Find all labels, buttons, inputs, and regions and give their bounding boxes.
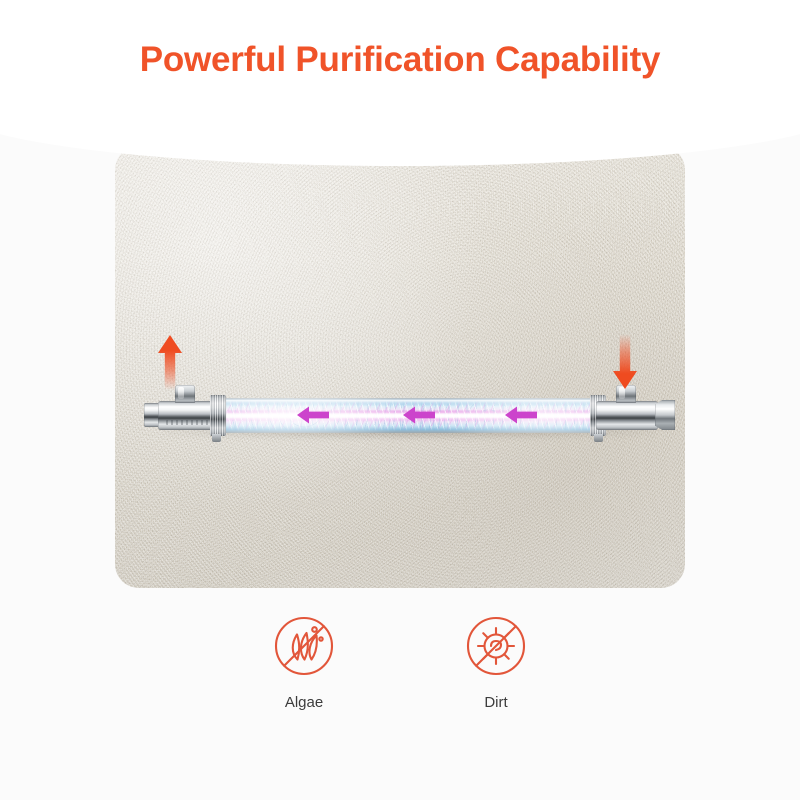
outlet-arrow-icon	[612, 334, 638, 390]
water-flow-arrow-3	[504, 404, 538, 426]
right-end-nut	[655, 400, 675, 430]
feature-label-algae: Algae	[285, 694, 323, 712]
left-collar-knurl	[210, 395, 226, 436]
card-vignette	[115, 146, 685, 588]
feature-list: Algae Dirt	[0, 612, 800, 712]
uv-sterilizer-lamp	[144, 379, 672, 445]
left-mounting-foot	[212, 434, 221, 442]
page-title: Powerful Purification Capability	[0, 38, 800, 82]
no-dirt-icon	[462, 612, 530, 680]
left-collar-clamp	[210, 395, 226, 436]
right-mounting-foot	[594, 434, 603, 442]
feature-dirt: Dirt	[437, 612, 555, 712]
left-body-engraving	[166, 420, 212, 425]
feature-algae: Algae	[245, 612, 363, 712]
inlet-arrow-icon	[157, 334, 183, 390]
no-algae-icon	[270, 612, 338, 680]
water-flow-arrow-2	[402, 404, 436, 426]
water-flow-arrow-1	[296, 404, 330, 426]
product-image-card	[115, 146, 685, 588]
right-chrome-body	[596, 401, 658, 430]
feature-label-dirt: Dirt	[484, 694, 507, 712]
promo-page: Powerful Purification Capability	[0, 0, 800, 800]
